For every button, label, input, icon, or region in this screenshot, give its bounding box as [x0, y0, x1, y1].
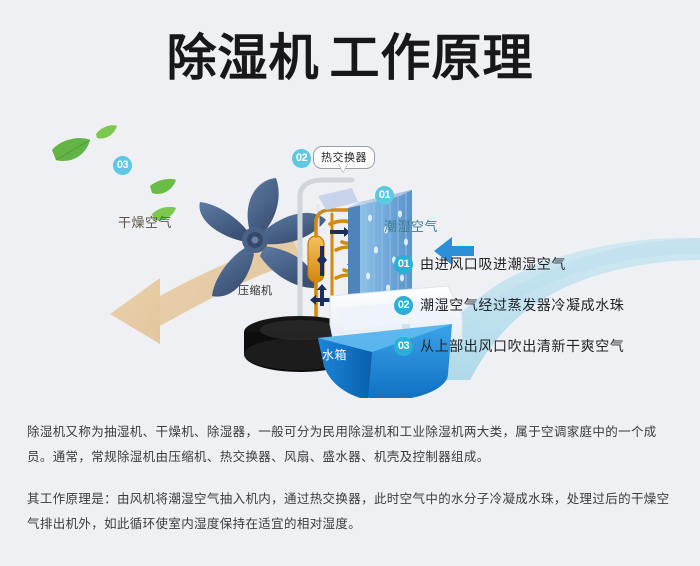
step-item-01: 01 由进风口吸进潮湿空气 [394, 252, 694, 276]
body-copy: 除湿机又称为抽湿机、干燥机、除湿器，一般可分为民用除湿机和工业除湿机两大类，属于… [27, 420, 677, 537]
label-dry-air: 干燥空气 [118, 212, 172, 231]
label-water-tank: 水箱 [322, 346, 347, 363]
body-paragraph-2: 其工作原理是：由风机将潮湿空气抽入机内，通过热交换器，此时空气中的水分子冷凝成水… [27, 487, 677, 537]
body-paragraph-1: 除湿机又称为抽湿机、干燥机、除湿器，一般可分为民用除湿机和工业除湿机两大类，属于… [27, 420, 677, 470]
step-badge-03: 03 [394, 337, 413, 356]
label-compressor: 压缩机 [238, 282, 273, 298]
step-item-02: 02 潮湿空气经过蒸发器冷凝成水珠 [394, 293, 694, 317]
illustration-badge-02: 02 [292, 149, 311, 168]
step-text-02: 潮湿空气经过蒸发器冷凝成水珠 [420, 295, 624, 315]
illustration-badge-01: 01 [375, 186, 394, 205]
heat-exchanger-callout-tail [338, 163, 348, 172]
fan-icon [199, 178, 326, 297]
title-part-product: 除湿机 [167, 30, 320, 86]
steps-list: 01 由进风口吸进潮湿空气 02 潮湿空气经过蒸发器冷凝成水珠 03 从上部出风… [394, 252, 694, 375]
infographic-page: 除湿机工作原理 [0, 0, 700, 566]
step-text-01: 由进风口吸进潮湿空气 [420, 254, 566, 274]
step-badge-02: 02 [394, 296, 413, 315]
step-item-03: 03 从上部出风口吹出清新干爽空气 [394, 334, 694, 358]
step-text-03: 从上部出风口吹出清新干爽空气 [420, 336, 624, 356]
leaf-icons [52, 125, 176, 220]
page-title: 除湿机工作原理 [0, 28, 700, 88]
label-humid-air: 潮湿空气 [384, 216, 438, 235]
step-badge-01: 01 [394, 255, 413, 274]
illustration-badge-03: 03 [113, 156, 132, 175]
title-part-principle: 工作原理 [330, 30, 534, 86]
